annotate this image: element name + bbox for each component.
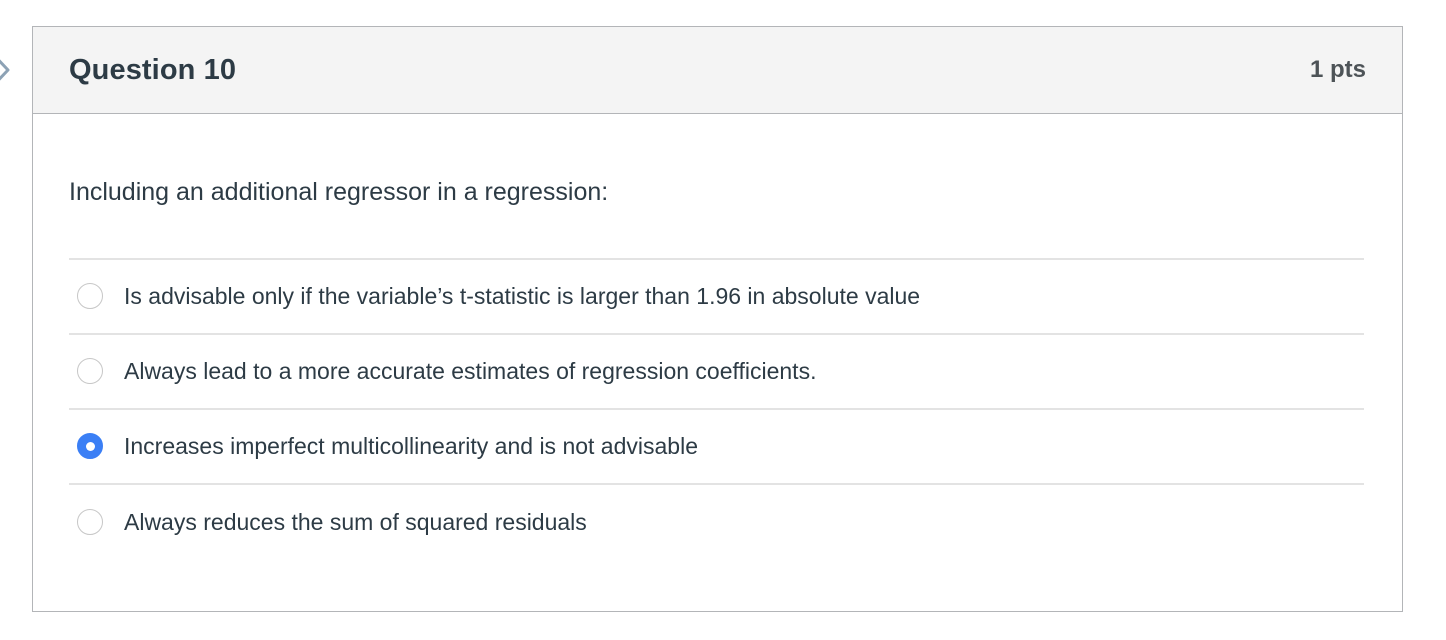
radio-button-icon[interactable] bbox=[77, 358, 103, 384]
answer-options-list: Is advisable only if the variable’s t-st… bbox=[69, 258, 1364, 560]
question-title: Question 10 bbox=[69, 54, 236, 87]
radio-button-selected-icon[interactable] bbox=[77, 433, 103, 459]
answer-option-label: Increases imperfect multicollinearity an… bbox=[124, 432, 698, 461]
answer-option-label: Always reduces the sum of squared residu… bbox=[124, 508, 587, 537]
question-points: 1 pts bbox=[1310, 56, 1366, 84]
question-prompt: Including an additional regressor in a r… bbox=[69, 114, 1366, 209]
answer-option-row[interactable]: Always lead to a more accurate estimates… bbox=[69, 335, 1364, 410]
question-card: Question 10 1 pts Including an additiona… bbox=[32, 26, 1403, 612]
question-header: Question 10 1 pts bbox=[33, 27, 1402, 114]
radio-button-icon[interactable] bbox=[77, 509, 103, 535]
answer-option-row-selected[interactable]: Increases imperfect multicollinearity an… bbox=[69, 410, 1364, 485]
answer-option-row[interactable]: Always reduces the sum of squared residu… bbox=[69, 485, 1364, 560]
next-question-chevron-icon[interactable] bbox=[0, 48, 14, 92]
answer-option-label: Always lead to a more accurate estimates… bbox=[124, 357, 816, 386]
question-body: Including an additional regressor in a r… bbox=[33, 114, 1402, 560]
answer-option-row[interactable]: Is advisable only if the variable’s t-st… bbox=[69, 260, 1364, 335]
radio-button-icon[interactable] bbox=[77, 283, 103, 309]
answer-option-label: Is advisable only if the variable’s t-st… bbox=[124, 282, 920, 311]
